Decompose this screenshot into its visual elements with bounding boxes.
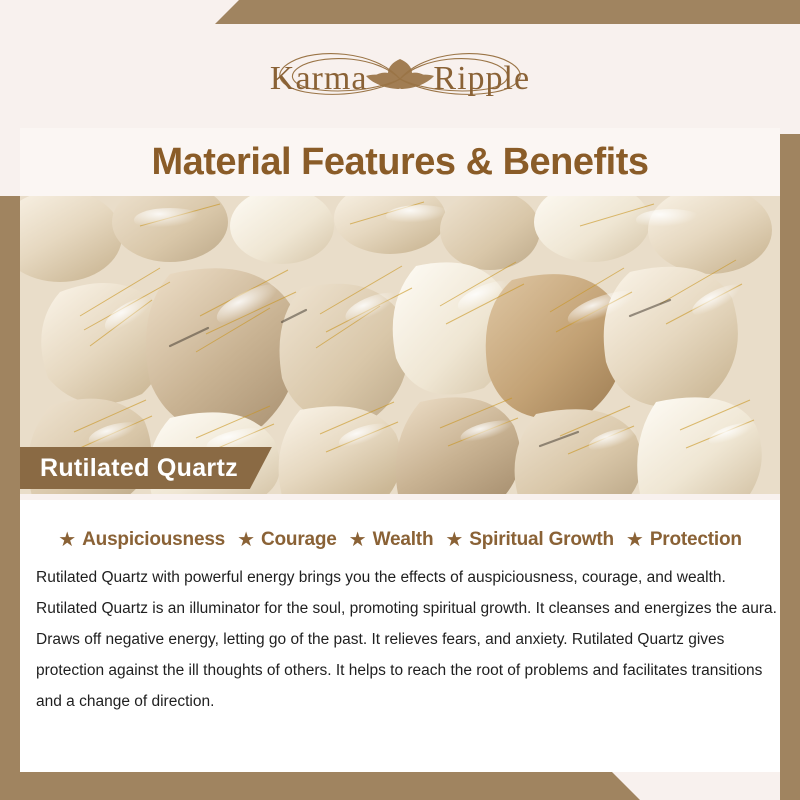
benefit-label: Protection	[650, 529, 742, 551]
frame-top-bar	[215, 0, 800, 24]
benefit-label: Courage	[261, 529, 337, 551]
material-name-banner: Rutilated Quartz	[20, 447, 272, 489]
benefit-label: Spiritual Growth	[469, 529, 614, 551]
benefit-item-0: ★ Auspiciousness	[58, 529, 225, 551]
material-name-label: Rutilated Quartz	[40, 454, 238, 483]
benefit-label: Auspiciousness	[82, 529, 225, 551]
lotus-spacer	[373, 62, 427, 96]
infographic-page: Karma Ripple Material Features & Benefit…	[0, 0, 800, 800]
brand-wordmark: Karma Ripple	[268, 60, 532, 98]
frame-left-bar	[0, 196, 20, 800]
description-paragraph: Rutilated Quartz with powerful energy br…	[36, 562, 778, 717]
benefit-item-4: ★ Protection	[626, 529, 742, 551]
benefit-item-3: ★ Spiritual Growth	[445, 529, 614, 551]
star-icon: ★	[445, 530, 463, 550]
brand-name-part1: Karma	[268, 60, 370, 98]
star-icon: ★	[626, 530, 644, 550]
title-banner: Material Features & Benefits	[20, 128, 780, 196]
star-icon: ★	[237, 530, 255, 550]
benefits-list: ★ Auspiciousness ★ Courage ★ Wealth ★ Sp…	[20, 520, 780, 560]
frame-bottom-bar	[0, 772, 640, 800]
star-icon: ★	[58, 530, 76, 550]
page-title: Material Features & Benefits	[151, 141, 648, 184]
benefit-item-1: ★ Courage	[237, 529, 337, 551]
benefit-item-2: ★ Wealth	[349, 529, 434, 551]
brand-header: Karma Ripple	[0, 24, 800, 134]
star-icon: ★	[349, 530, 367, 550]
benefit-label: Wealth	[373, 529, 434, 551]
brand-logo: Karma Ripple	[235, 42, 565, 116]
brand-name-part2: Ripple	[431, 60, 532, 98]
